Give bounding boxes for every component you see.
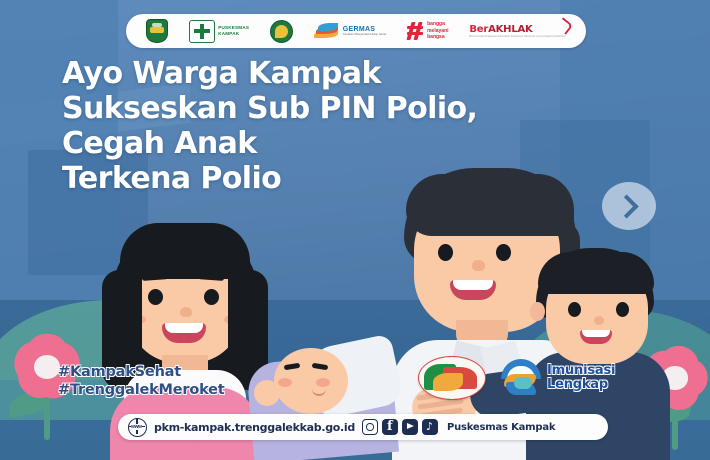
poster-headline: Ayo Warga Kampak Sukseskan Sub PIN Polio… bbox=[62, 56, 622, 196]
illustration-baby bbox=[250, 340, 395, 460]
berakhlak-title-a: Ber bbox=[469, 24, 488, 35]
bangga-hash-icon bbox=[407, 22, 424, 40]
facebook-glyph: f bbox=[387, 420, 393, 433]
logo-berakhlak: BerAKHLAK Berorientasi Pelayanan Akuntab… bbox=[469, 24, 565, 38]
berakhlak-title-b: AKHLAK bbox=[488, 24, 533, 35]
next-slide-button[interactable] bbox=[602, 182, 656, 230]
globe-www-icon: www bbox=[128, 418, 147, 437]
poster-canvas: PUSKESMAS KAMPAK GERMAS Gerakan Masyarak… bbox=[0, 0, 710, 460]
imunisasi-line2: Lengkap bbox=[547, 378, 615, 392]
logo-puskesmas-kampak: PUSKESMAS KAMPAK bbox=[189, 20, 249, 43]
bangga-line3: bangsa bbox=[427, 34, 448, 41]
partner-logo-bar: PUSKESMAS KAMPAK GERMAS Gerakan Masyarak… bbox=[126, 14, 586, 48]
contact-footer-bar: www pkm-kampak.trenggalekkab.go.id f ♪ P… bbox=[118, 414, 608, 440]
kemenkes-icon bbox=[270, 20, 293, 43]
headline-line-4: Terkena Polio bbox=[62, 161, 622, 196]
tiktok-icon[interactable]: ♪ bbox=[422, 419, 438, 435]
headline-line-2: Sukseskan Sub PIN Polio, bbox=[62, 91, 622, 126]
youtube-icon[interactable] bbox=[402, 419, 418, 435]
headline-line-3: Cegah Anak bbox=[62, 126, 622, 161]
logo-trenggalek-regency-emblem bbox=[146, 19, 168, 43]
badge-row: Imunisasi Lengkap bbox=[418, 356, 615, 400]
berakhlak-subtitle: Berorientasi Pelayanan Akuntabel Kompete… bbox=[469, 35, 565, 38]
puskesmas-line2: KAMPAK bbox=[218, 31, 249, 37]
hashtag-kampak-sehat: #KampakSehat bbox=[58, 364, 225, 382]
hashtag-block: #KampakSehat #TrenggalekMeroket bbox=[58, 364, 225, 399]
medical-cross-icon bbox=[189, 20, 215, 43]
website-url[interactable]: pkm-kampak.trenggalekkab.go.id bbox=[154, 421, 355, 434]
logo-kementerian-kesehatan bbox=[270, 20, 293, 43]
germas-subtitle: Gerakan Masyarakat Hidup Sehat bbox=[343, 33, 387, 37]
www-label: www bbox=[131, 424, 143, 430]
account-name: Puskesmas Kampak bbox=[447, 422, 555, 433]
social-icon-group: f ♪ bbox=[362, 419, 438, 435]
imunisasi-line1: Imunisasi bbox=[547, 364, 615, 378]
anak-indonesia-sehat-logo bbox=[418, 356, 486, 400]
chevron-right-icon bbox=[614, 194, 638, 218]
imunisasi-lengkap-badge: Imunisasi Lengkap bbox=[500, 359, 615, 397]
logo-germas: GERMAS Gerakan Masyarakat Hidup Sehat bbox=[314, 23, 387, 40]
facebook-icon[interactable]: f bbox=[382, 419, 398, 435]
instagram-icon[interactable] bbox=[362, 419, 378, 435]
trenggalek-emblem-icon bbox=[146, 19, 168, 43]
tiktok-glyph: ♪ bbox=[426, 420, 433, 433]
headline-line-1: Ayo Warga Kampak bbox=[62, 56, 622, 91]
hashtag-trenggalek-meroket: #TrenggalekMeroket bbox=[58, 382, 225, 400]
logo-bangga-melayani-bangsa: bangga melayani bangsa bbox=[407, 21, 448, 41]
germas-swoosh-icon bbox=[314, 23, 340, 40]
imunisasi-icon bbox=[500, 359, 542, 397]
